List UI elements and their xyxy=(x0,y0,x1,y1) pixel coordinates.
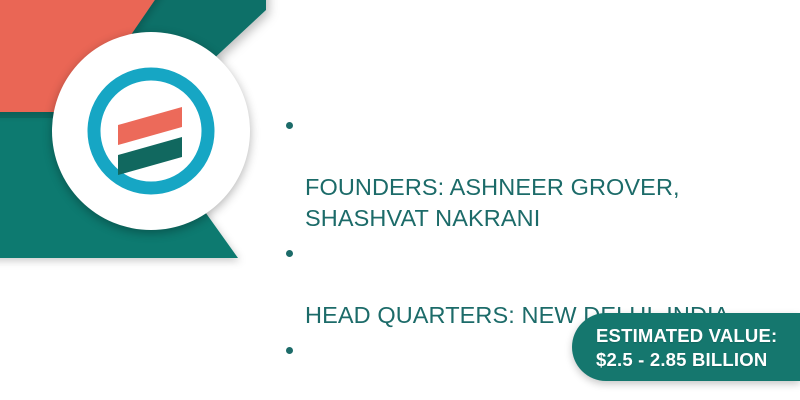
logo-bar-bottom xyxy=(118,137,182,175)
estimated-value-text: ESTIMATED VALUE: $2.5 - 2.85 BILLION xyxy=(596,324,792,372)
logo-bar-top xyxy=(118,107,182,145)
bharatpe-logo xyxy=(81,61,221,201)
list-item: FOUNDERS: ASHNEER GROVER, SHASHVAT NAKRA… xyxy=(283,110,763,234)
company-info-card: FOUNDERS: ASHNEER GROVER, SHASHVAT NAKRA… xyxy=(0,0,800,400)
bullet-icon xyxy=(286,250,293,257)
bullet-icon xyxy=(286,347,293,354)
bullet-icon xyxy=(286,122,293,129)
estimated-value-badge: ESTIMATED VALUE: $2.5 - 2.85 BILLION xyxy=(572,313,800,381)
logo-circle-badge xyxy=(52,32,250,230)
list-item-label: FOUNDERS: ASHNEER GROVER, SHASHVAT NAKRA… xyxy=(305,174,680,231)
